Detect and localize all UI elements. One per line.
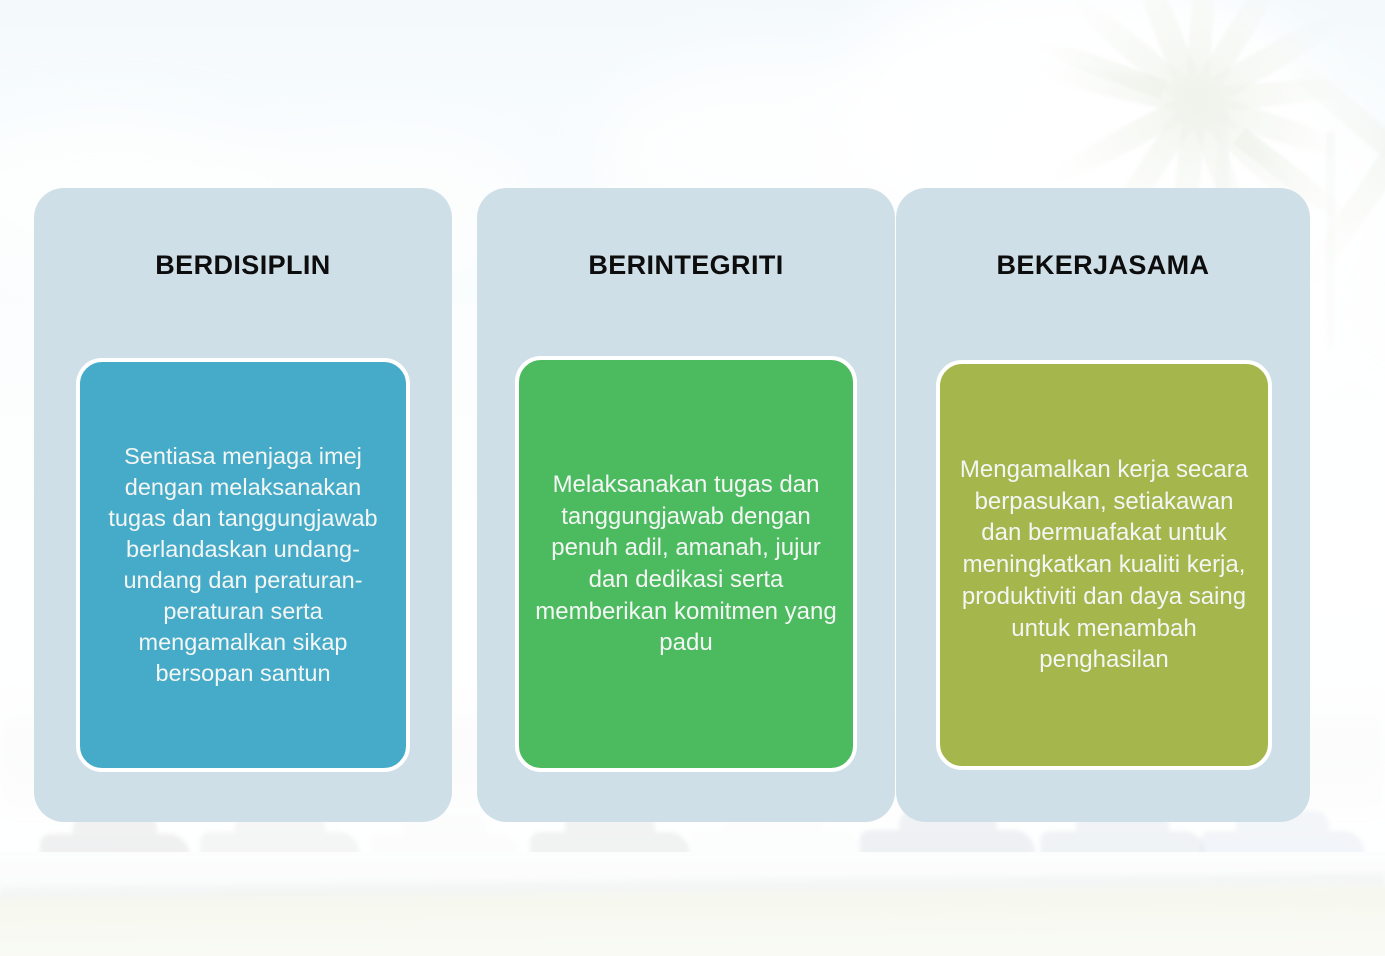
value-card-berintegriti[interactable]: Melaksanakan tugas dan tanggungjawab den… <box>515 356 857 772</box>
core-values-panels: BERDISIPLIN Sentiasa menjaga imej dengan… <box>0 0 1385 956</box>
value-card-bekerjasama[interactable]: Mengamalkan kerja secara berpasukan, set… <box>936 360 1272 770</box>
panel-title-berintegriti: BERINTEGRITI <box>477 250 895 281</box>
value-panel-bekerjasama[interactable]: BEKERJASAMA Mengamalkan kerja secara ber… <box>896 188 1310 822</box>
value-text-bekerjasama: Mengamalkan kerja secara berpasukan, set… <box>954 454 1254 676</box>
value-text-berdisiplin: Sentiasa menjaga imej dengan melaksanaka… <box>94 441 392 689</box>
panel-title-berdisiplin: BERDISIPLIN <box>34 250 452 281</box>
value-panel-berdisiplin[interactable]: BERDISIPLIN Sentiasa menjaga imej dengan… <box>34 188 452 822</box>
value-panel-berintegriti[interactable]: BERINTEGRITI Melaksanakan tugas dan tang… <box>477 188 895 822</box>
value-card-berdisiplin[interactable]: Sentiasa menjaga imej dengan melaksanaka… <box>76 358 410 772</box>
slide-canvas: BERDISIPLIN Sentiasa menjaga imej dengan… <box>0 0 1385 956</box>
value-text-berintegriti: Melaksanakan tugas dan tanggungjawab den… <box>533 469 839 659</box>
panel-title-bekerjasama: BEKERJASAMA <box>896 250 1310 281</box>
